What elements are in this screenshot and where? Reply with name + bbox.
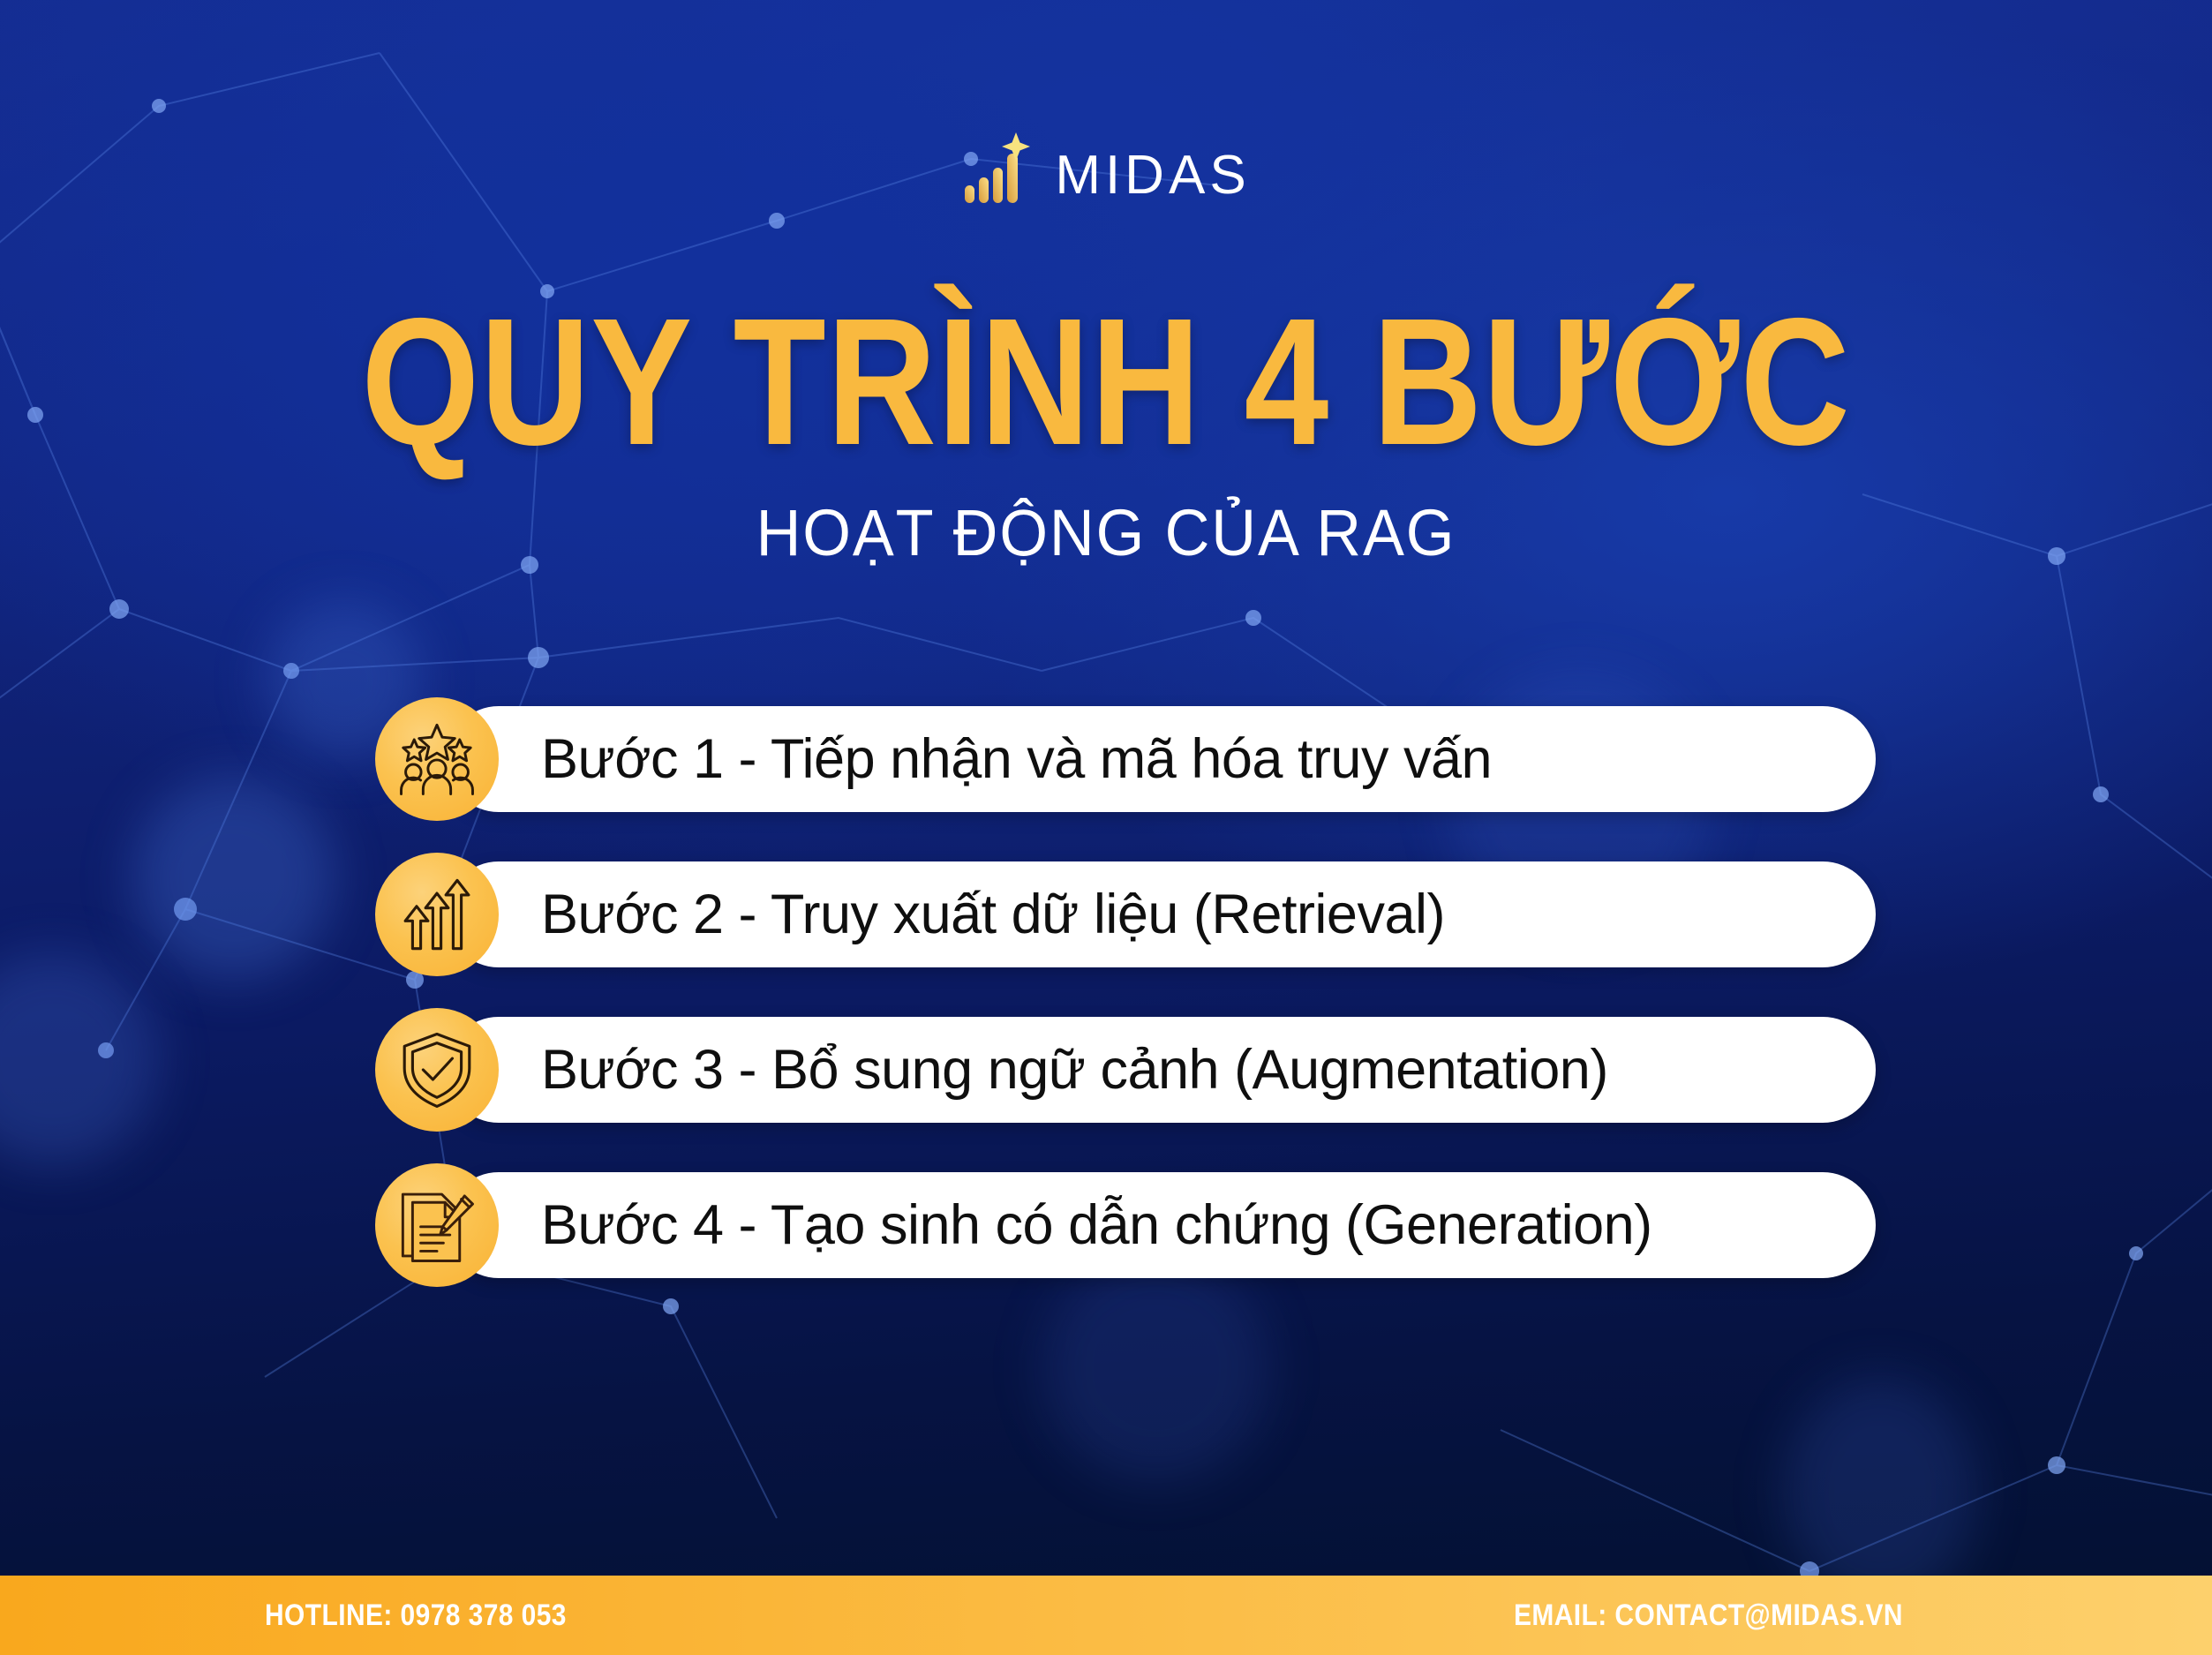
background-glow-3	[0, 953, 159, 1165]
step-label: Bước 2 - Truy xuất dữ liệu (Retrieval)	[541, 861, 1445, 967]
page-subtitle: HOẠT ĐỘNG CỦA RAG	[56, 495, 2157, 570]
page-title: QUY TRÌNH 4 BƯỚC	[177, 291, 2035, 472]
step-label: Bước 3 - Bổ sung ngữ cảnh (Augmentation)	[541, 1017, 1608, 1123]
heading-block: QUY TRÌNH 4 BƯỚC HOẠT ĐỘNG CỦA RAG	[0, 291, 2212, 570]
footer-bar: HOTLINE: 0978 378 053 EMAIL: CONTACT@MID…	[0, 1576, 2212, 1655]
list-item[interactable]: Bước 3 - Bổ sung ngữ cảnh (Augmentation)	[375, 1008, 1876, 1132]
step-label: Bước 1 - Tiếp nhận và mã hóa truy vấn	[541, 706, 1492, 812]
document-pen-icon	[375, 1163, 499, 1287]
footer-hotline: HOTLINE: 0978 378 053	[265, 1599, 567, 1633]
background-glow-5	[1783, 1377, 1977, 1606]
brand-name: MIDAS	[1055, 149, 1250, 205]
brand-logo: MIDAS	[0, 131, 2212, 205]
people-stars-icon	[375, 697, 499, 821]
footer-email: EMAIL: CONTACT@MIDAS.VN	[1514, 1599, 1903, 1633]
step-list: Bước 1 - Tiếp nhận và mã hóa truy vấn Bư…	[375, 697, 1876, 1319]
list-item[interactable]: Bước 2 - Truy xuất dữ liệu (Retrieval)	[375, 853, 1876, 976]
list-item[interactable]: Bước 4 - Tạo sinh có dẫn chứng (Generati…	[375, 1163, 1876, 1287]
infographic-poster: MIDAS QUY TRÌNH 4 BƯỚC HOẠT ĐỘNG CỦA RAG	[0, 0, 2212, 1655]
bar-chart-star-icon	[961, 131, 1035, 205]
growth-arrows-icon	[375, 853, 499, 976]
background-glow-1	[132, 777, 335, 980]
shield-check-icon	[375, 1008, 499, 1132]
step-label: Bước 4 - Tạo sinh có dẫn chứng (Generati…	[541, 1172, 1652, 1278]
list-item[interactable]: Bước 1 - Tiếp nhận và mã hóa truy vấn	[375, 697, 1876, 821]
